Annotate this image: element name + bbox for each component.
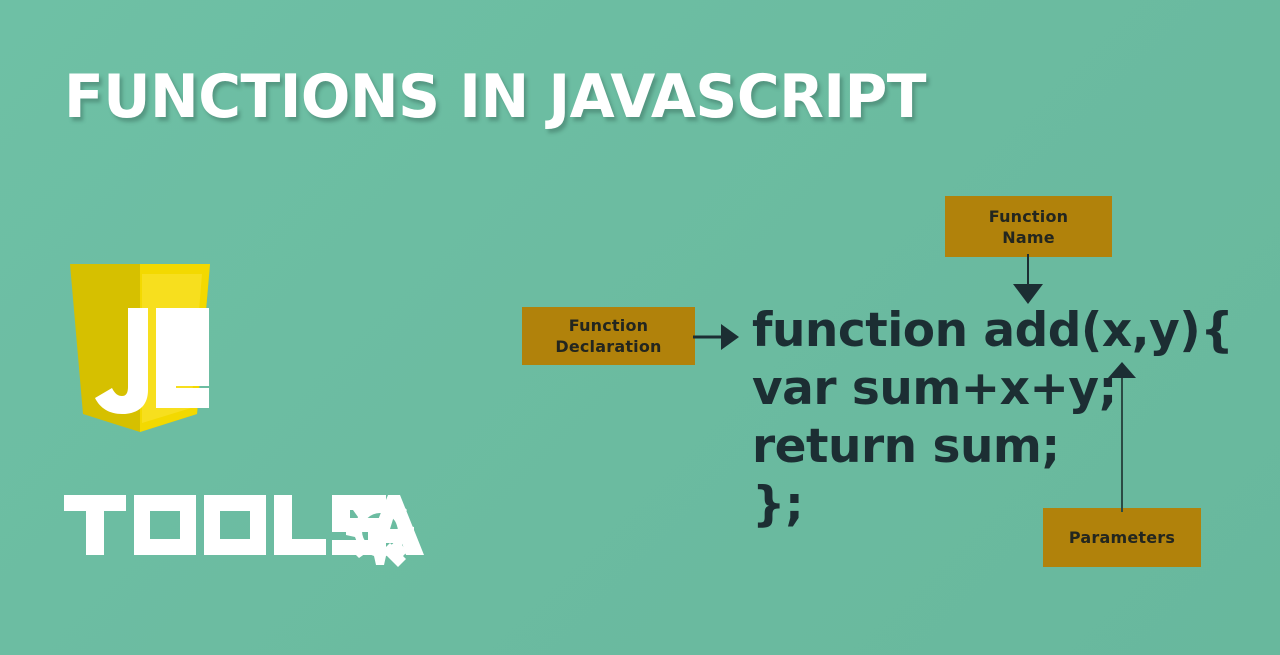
callout-function-declaration-label: Function Declaration [555,315,661,357]
code-line-3: return sum; [752,418,1233,476]
code-block: function add(x,y){ var sum+x+y; return s… [752,302,1233,534]
slide-canvas: FUNCTIONS IN JAVASCRIPT [0,0,1280,655]
arrow-right-icon [693,318,743,356]
code-line-1: function add(x,y){ [752,302,1233,360]
callout-function-name-label: Function Name [989,206,1069,248]
page-title: FUNCTIONS IN JAVASCRIPT [64,62,926,132]
arrow-up-icon [1098,358,1148,512]
arrow-down-icon [1004,254,1054,306]
callout-function-name: Function Name [945,196,1112,257]
callout-parameters: Parameters [1043,508,1201,567]
callout-parameters-label: Parameters [1069,527,1175,548]
code-line-2: var sum+x+y; [752,360,1233,418]
callout-function-declaration: Function Declaration [522,307,695,365]
javascript-shield-icon [64,262,216,434]
toolsqa-logo [64,489,424,567]
